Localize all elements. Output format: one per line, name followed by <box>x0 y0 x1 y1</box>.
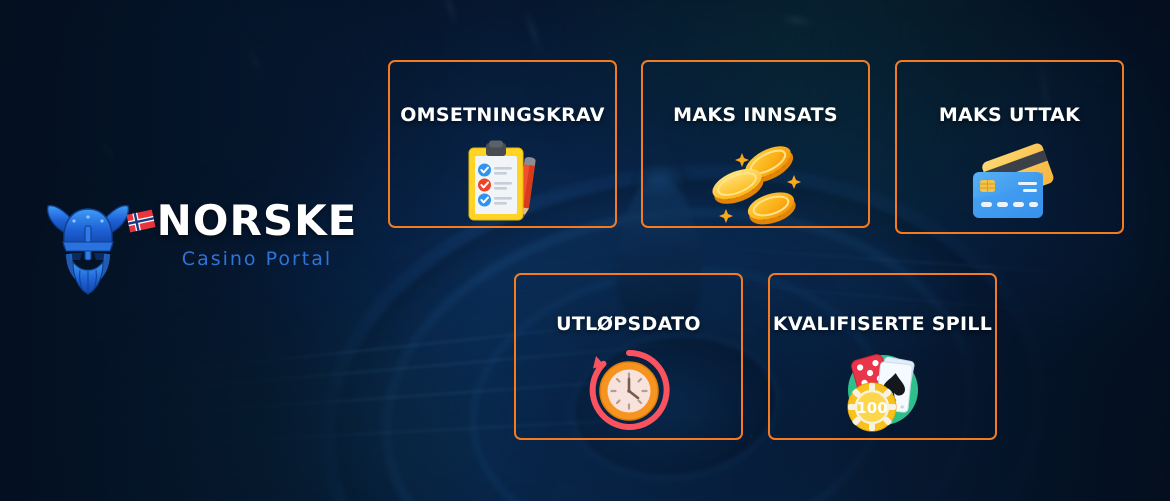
card-title: MAKS INNSATS <box>643 104 868 126</box>
card-title: OMSETNINGSKRAV <box>390 104 615 126</box>
card-utlopsdato[interactable]: UTLØPSDATO <box>514 273 743 440</box>
clock-rotate-icon <box>516 347 741 433</box>
gold-coins-icon <box>643 134 868 228</box>
promo-banner: NORSKE Casino Portal OMSETNINGSKRAV <box>0 0 1170 501</box>
card-title: KVALIFISERTE SPILL <box>770 313 995 335</box>
dice-cards-chip-icon: 100 <box>770 345 995 435</box>
viking-helmet-icon <box>44 196 132 296</box>
brand-name: NORSKE <box>140 200 374 242</box>
card-title: MAKS UTTAK <box>897 104 1122 126</box>
brand-wordmark: NORSKE Casino Portal <box>140 200 374 270</box>
card-kvalifiserte-spill[interactable]: KVALIFISERTE SPILL <box>768 273 997 440</box>
card-title: UTLØPSDATO <box>516 313 741 335</box>
card-omsetningskrav[interactable]: OMSETNINGSKRAV <box>388 60 617 228</box>
credit-cards-icon <box>897 140 1122 226</box>
clipboard-checklist-icon <box>390 138 615 224</box>
brand-logo[interactable]: NORSKE Casino Portal <box>44 196 334 296</box>
brand-tagline: Casino Portal <box>140 248 374 270</box>
card-maks-innsats[interactable]: MAKS INNSATS <box>641 60 870 228</box>
chip-value: 100 <box>856 399 887 417</box>
card-maks-uttak[interactable]: MAKS UTTAK <box>895 60 1124 234</box>
